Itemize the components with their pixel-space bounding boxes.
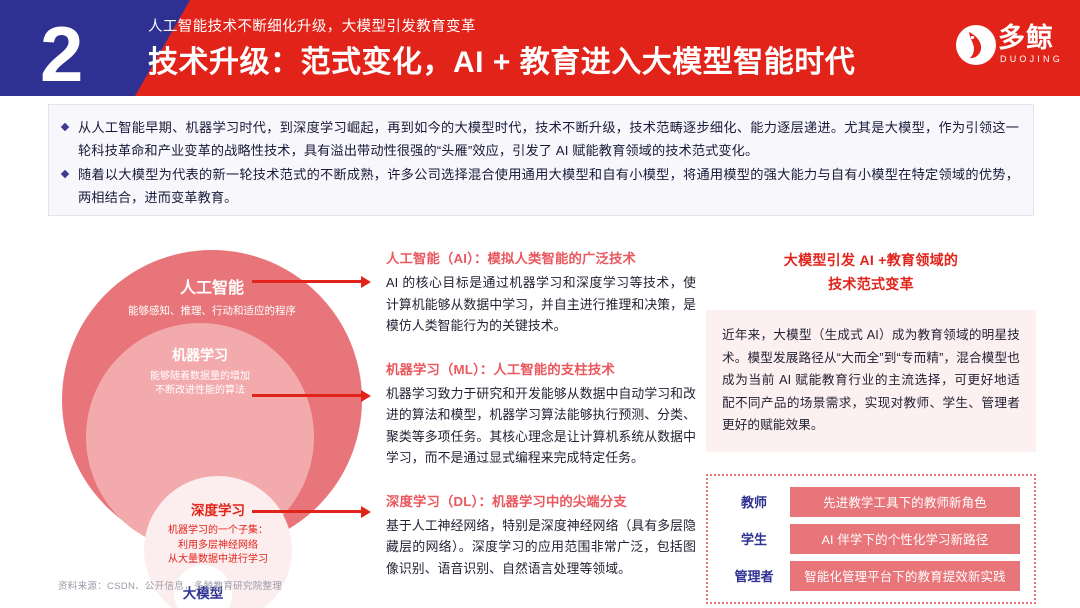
circle-dl-title: 深度学习: [144, 499, 292, 519]
circle-artificial-intelligence: 人工智能 能够感知、推理、行动和适应的程序 机器学习 能够随着数据量的增加 不断…: [62, 250, 362, 550]
summary-bullet-2: 随着以大模型为代表的新一轮技术范式的不断成熟，许多公司选择混合使用通用大模型和自…: [61, 163, 1019, 209]
summary-box: 从人工智能早期、机器学习时代，到深度学习崛起，再到如今的大模型时代，技术不断升级…: [48, 104, 1034, 216]
slide: 2 人工智能技术不断细化升级，大模型引发教育变革 技术升级：范式变化，AI + …: [0, 0, 1080, 608]
table-row-label: 教师: [718, 492, 790, 511]
arrow-to-ml-definition: [252, 394, 362, 397]
circle-ml-title: 机器学习: [86, 345, 314, 365]
summary-bullet-1: 从人工智能早期、机器学习时代，到深度学习崛起，再到如今的大模型时代，技术不断升级…: [61, 116, 1019, 162]
definition-ai: 人工智能（AI）：模拟人类智能的广泛技术 AI 的核心目标是通过机器学习和深度学…: [386, 248, 696, 337]
table-row-value: 智能化管理平台下的教育提效新实践: [790, 561, 1020, 591]
arrow-to-dl-definition: [252, 510, 362, 513]
circle-ai-desc: 能够感知、推理、行动和适应的程序: [62, 304, 362, 318]
table-row-value: 先进教学工具下的教师新角色: [790, 487, 1020, 517]
nested-circles-diagram: 人工智能 能够感知、推理、行动和适应的程序 机器学习 能够随着数据量的增加 不断…: [62, 250, 362, 550]
right-panel: 大模型引发 AI +教育领域的 技术范式变革 近年来，大模型（生成式 AI）成为…: [706, 248, 1036, 604]
definitions-column: 人工智能（AI）：模拟人类智能的广泛技术 AI 的核心目标是通过机器学习和深度学…: [386, 248, 696, 579]
stakeholder-table: 教师 先进教学工具下的教师新角色 学生 AI 伴学下的个性化学习新路径 管理者 …: [706, 474, 1036, 604]
table-row: 管理者 智能化管理平台下的教育提效新实践: [718, 561, 1020, 591]
right-panel-note: 近年来，大模型（生成式 AI）成为教育领域的明星技术。模型发展路径从“大而全”到…: [706, 310, 1036, 452]
diamond-bullet-icon: [61, 123, 69, 131]
right-panel-title-line2: 技术范式变革: [706, 272, 1036, 296]
circle-dl-desc: 机器学习的一个子集： 利用多层神经网络 从大量数据中进行学习: [144, 524, 292, 568]
diamond-bullet-icon: [61, 170, 69, 178]
table-row: 学生 AI 伴学下的个性化学习新路径: [718, 524, 1020, 554]
definition-ml: 机器学习（ML）：人工智能的支柱技术 机器学习致力于研究和开发能够从数据中自动学…: [386, 359, 696, 469]
table-row-value: AI 伴学下的个性化学习新路径: [790, 524, 1020, 554]
circle-machine-learning: 机器学习 能够随着数据量的增加 不断改进性能的算法 深度学习 机器学习的一个子集…: [86, 323, 314, 551]
table-row-label: 管理者: [718, 566, 790, 585]
logo-text-en: DUOJING: [1000, 54, 1063, 64]
header-subtitle: 人工智能技术不断细化升级，大模型引发教育变革: [148, 15, 476, 36]
source-note: 资料来源：CSDN、公开信息，多鲸教育研究院整理: [58, 578, 282, 592]
definition-dl-body: 基于人工神经网络，特别是深度神经网络（具有多层隐藏层的网络）。深度学习的应用范围…: [386, 515, 696, 580]
definition-dl-heading: 深度学习（DL）：机器学习中的尖端分支: [386, 491, 696, 512]
brand-logo: 多鲸 DUOJING: [956, 24, 1066, 72]
definition-ai-heading: 人工智能（AI）：模拟人类智能的广泛技术: [386, 248, 696, 269]
whale-icon: [956, 25, 996, 65]
right-panel-title: 大模型引发 AI +教育领域的 技术范式变革: [706, 248, 1036, 296]
arrow-to-ai-definition: [252, 280, 362, 283]
table-row: 教师 先进教学工具下的教师新角色: [718, 487, 1020, 517]
definition-ai-body: AI 的核心目标是通过机器学习和深度学习等技术，使计算机能够从数据中学习，并自主…: [386, 272, 696, 337]
logo-text-cn: 多鲸: [998, 23, 1054, 53]
table-row-label: 学生: [718, 529, 790, 548]
slide-number: 2: [40, 6, 82, 96]
summary-bullet-1-text: 从人工智能早期、机器学习时代，到深度学习崛起，再到如今的大模型时代，技术不断升级…: [78, 120, 1019, 158]
definition-ml-heading: 机器学习（ML）：人工智能的支柱技术: [386, 359, 696, 380]
definition-dl: 深度学习（DL）：机器学习中的尖端分支 基于人工神经网络，特别是深度神经网络（具…: [386, 491, 696, 580]
summary-bullet-2-text: 随着以大模型为代表的新一轮技术范式的不断成熟，许多公司选择混合使用通用大模型和自…: [78, 167, 1019, 205]
page-title: 技术升级：范式变化，AI + 教育进入大模型智能时代: [148, 37, 855, 81]
definition-ml-body: 机器学习致力于研究和开发能够从数据中自动学习和改进的算法和模型，机器学习算法能够…: [386, 383, 696, 469]
circle-ai-title: 人工智能: [62, 274, 362, 298]
slide-header: 2 人工智能技术不断细化升级，大模型引发教育变革 技术升级：范式变化，AI + …: [0, 0, 1080, 96]
right-panel-title-line1: 大模型引发 AI +教育领域的: [706, 248, 1036, 272]
